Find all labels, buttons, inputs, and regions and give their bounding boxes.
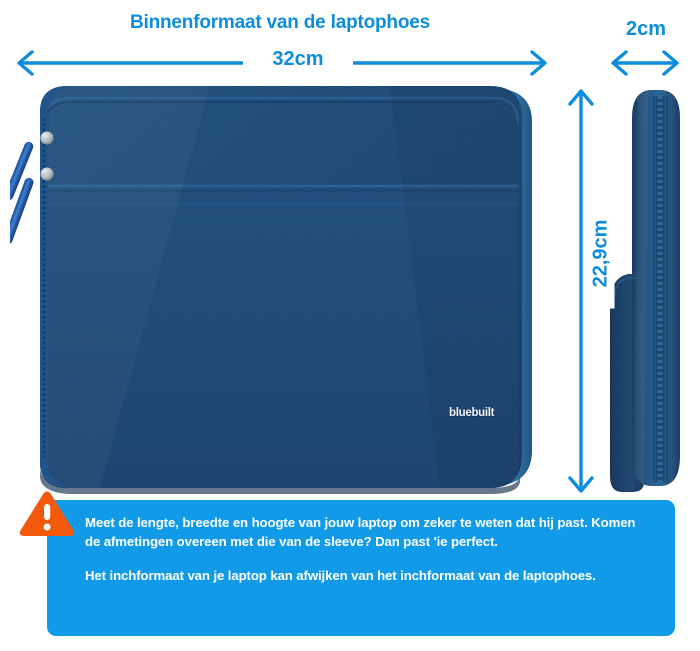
warning-triangle-icon [18, 490, 76, 542]
infographic-canvas: Binnenformaat van de laptophoes 32cm 2cm… [0, 0, 700, 651]
laptop-sleeve-side-view [604, 78, 688, 498]
info-paragraph-2: Het inchformaat van je laptop kan afwijk… [85, 567, 645, 586]
info-callout-box: Meet de lengte, breedte en hoogte van jo… [47, 500, 675, 636]
double-arrow-horizontal-icon [606, 48, 684, 78]
depth-dimension-label: 2cm [608, 18, 684, 41]
laptop-sleeve-front-view [10, 78, 540, 498]
height-dimension-label: 22,9cm [588, 199, 615, 309]
brand-label: bluebuilt [449, 407, 494, 419]
page-title: Binnenformaat van de laptophoes [0, 12, 560, 34]
width-dimension-label: 32cm [243, 48, 353, 71]
info-paragraph-1: Meet de lengte, breedte en hoogte van jo… [85, 514, 645, 551]
